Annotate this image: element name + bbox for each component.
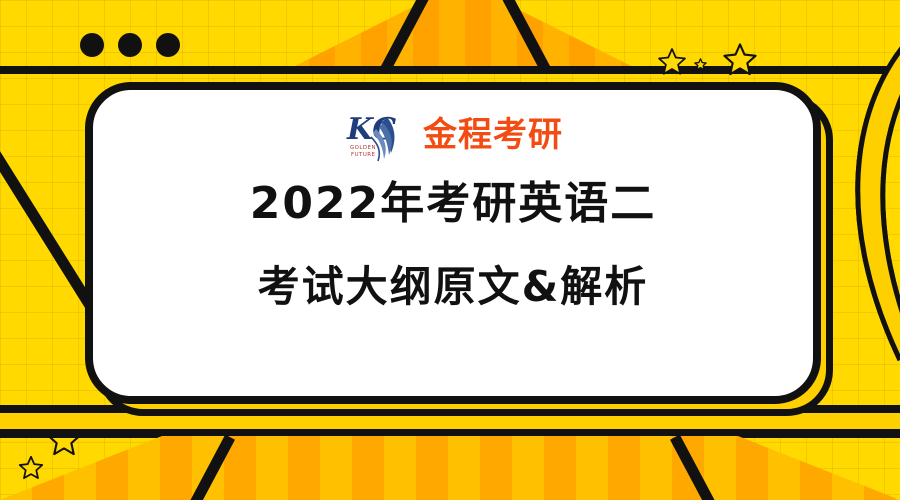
kc-logo-icon: KC GOLDEN FUTURE bbox=[343, 107, 417, 163]
bottom-striped-band bbox=[0, 436, 900, 500]
dot-3 bbox=[156, 33, 180, 57]
star-icon-top-right-large bbox=[722, 42, 758, 78]
svg-text:GOLDEN: GOLDEN bbox=[350, 145, 376, 151]
three-dots-decoration bbox=[80, 33, 180, 57]
title-line-2: 考试大纲原文&解析 bbox=[250, 266, 656, 308]
title-block: 2022年考研英语二 考试大纲原文&解析 bbox=[250, 182, 656, 308]
star-icon-top-right-tiny bbox=[694, 58, 707, 71]
poster-canvas: KC GOLDEN FUTURE 金程考研 2022年考研英语二 考试大纲原文&… bbox=[0, 0, 900, 500]
svg-text:FUTURE: FUTURE bbox=[351, 152, 376, 158]
brand-wordmark: 金程考研 bbox=[423, 118, 563, 152]
title-line-1: 2022年考研英语二 bbox=[250, 182, 656, 226]
star-icon-top-right-medium bbox=[657, 47, 687, 77]
dot-1 bbox=[80, 33, 104, 57]
brand-logo: KC GOLDEN FUTURE 金程考研 bbox=[343, 106, 563, 164]
dot-2 bbox=[118, 33, 142, 57]
top-horizontal-rule bbox=[0, 66, 900, 74]
bottom-band-stripes bbox=[0, 436, 900, 500]
main-content-card: KC GOLDEN FUTURE 金程考研 2022年考研英语二 考试大纲原文&… bbox=[85, 82, 821, 404]
